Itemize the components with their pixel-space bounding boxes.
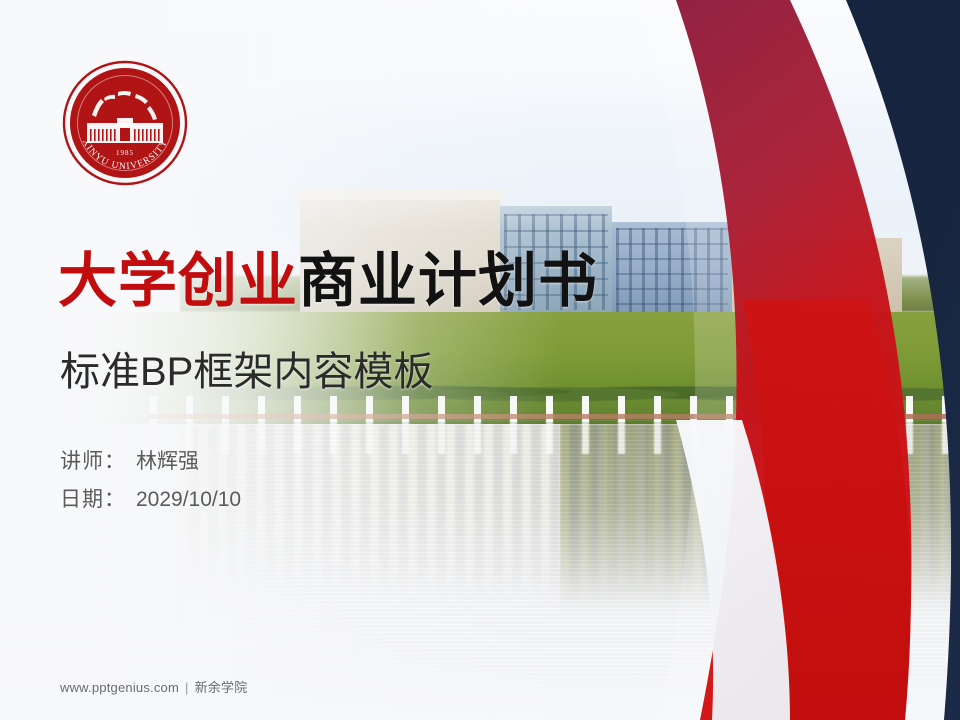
slide-subtitle: 标准BP框架内容模板 bbox=[60, 352, 433, 392]
footer-org: 新余学院 bbox=[195, 680, 248, 695]
slide-footer: www.pptgenius.com|新余学院 bbox=[60, 677, 247, 696]
title-main: 商业计划书 bbox=[298, 248, 598, 314]
date-label: 日期： bbox=[60, 488, 126, 511]
presenter-name: 林辉强 bbox=[136, 450, 199, 473]
footer-site: www.pptgenius.com bbox=[60, 680, 179, 695]
presenter-label: 讲师： bbox=[60, 450, 126, 473]
footer-separator: | bbox=[185, 680, 189, 695]
building-d bbox=[732, 238, 902, 316]
presentation-slide: 1985 XINYU UNIVERSITY 大学创业商业计划书 标准BP框架内容… bbox=[0, 0, 960, 720]
university-logo: 1985 XINYU UNIVERSITY bbox=[62, 60, 188, 186]
slide-title: 大学创业商业计划书 bbox=[58, 252, 598, 311]
date-value: 2029/10/10 bbox=[136, 488, 241, 511]
building-c-windows bbox=[616, 228, 728, 312]
slide-meta: 讲师：林辉强 日期：2029/10/10 bbox=[60, 443, 241, 519]
logo-year: 1985 bbox=[116, 149, 134, 157]
title-highlight: 大学创业 bbox=[58, 248, 298, 314]
photo-fade-bottom bbox=[0, 570, 960, 720]
presenter-row: 讲师：林辉强 bbox=[60, 443, 241, 481]
date-row: 日期：2029/10/10 bbox=[60, 481, 241, 519]
